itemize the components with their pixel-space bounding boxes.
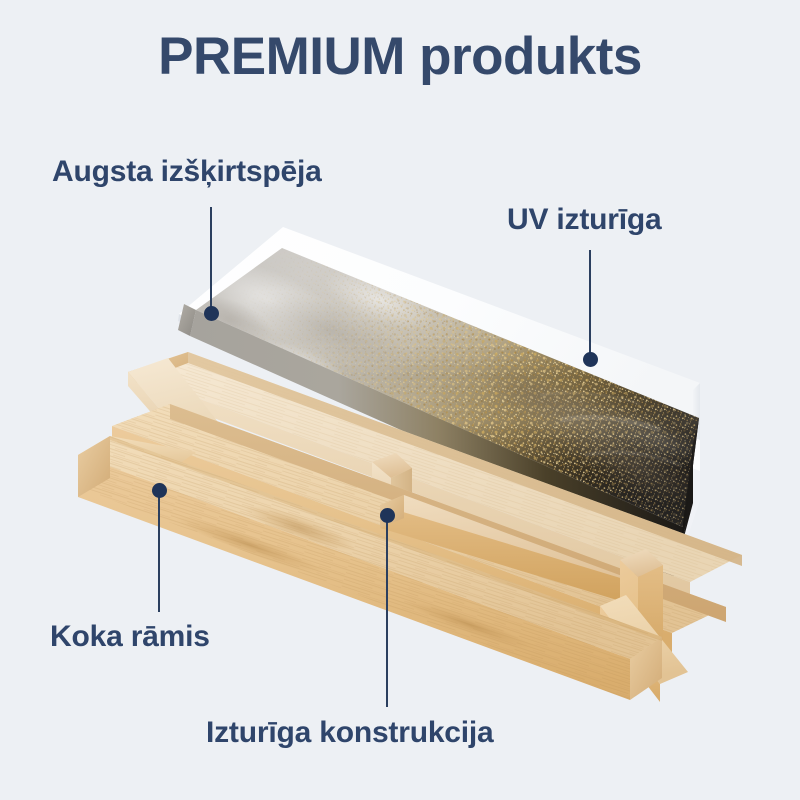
callout-dot [380,508,395,523]
label-wooden-frame: Koka rāmis [50,620,210,654]
callout-dot [204,306,219,321]
product-feature-graphic: PREMIUM produkts Augsta izšķirtspēja UV … [0,0,800,800]
callout-line [158,489,160,612]
label-high-resolution: Augsta izšķirtspēja [52,155,322,189]
label-uv-resistant: UV izturīga [507,203,661,237]
callout-line [386,514,388,707]
label-durable-construction: Izturīga konstrukcija [206,716,494,750]
callout-dot [583,352,598,367]
callout-line [210,207,212,313]
callout-line [589,250,591,359]
callout-dot [152,483,167,498]
exploded-view-diagram [0,0,800,800]
page-title: PREMIUM produkts [0,26,800,87]
